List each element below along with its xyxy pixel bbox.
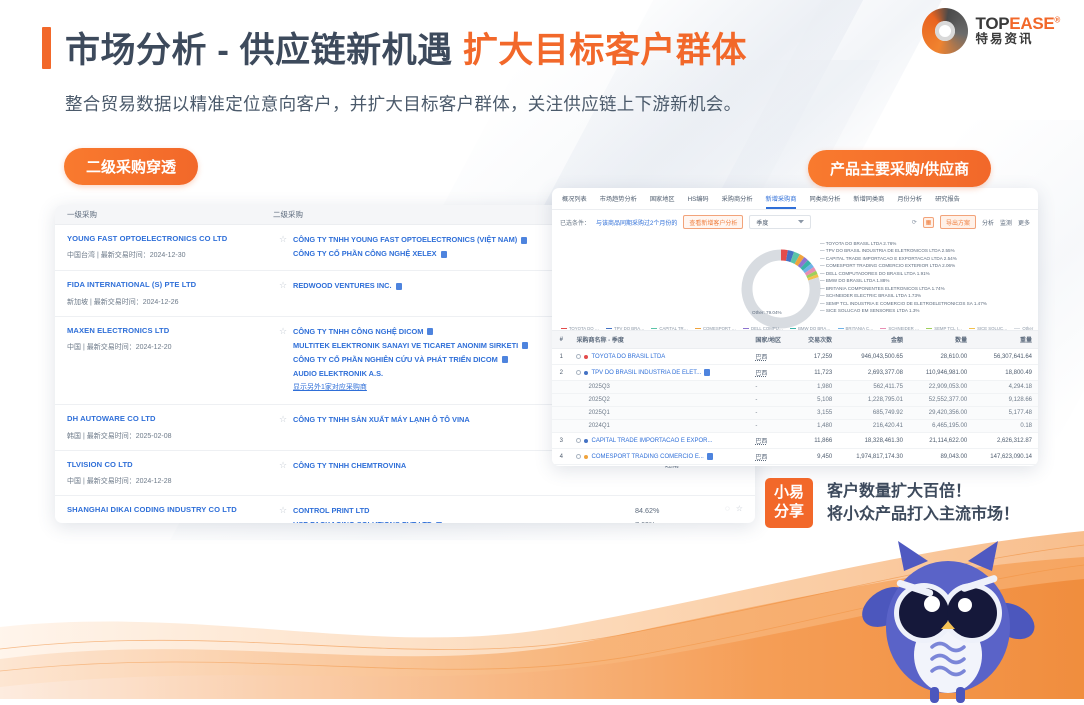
column-header-tier1: 一级采购 [55,209,273,220]
deals-cell: 9,450 [795,449,838,465]
donut-slice[interactable] [787,256,792,257]
deals-cell: 5,108 [795,394,838,407]
buyer-name-text[interactable]: COMESPORT TRADING COMERCIO E... [591,454,703,460]
star-outline-icon[interactable]: ☆ [273,459,293,486]
legend-chip-label: TPV DO BRA… [614,326,644,331]
legend-entry: — BRITANIA COMPONENTES ELETRONICOS LTDA … [820,285,987,292]
legend-color-swatch [743,328,749,330]
share-tag-line2: 分享 [774,503,804,522]
company-badge-icon [522,342,528,349]
region-cell: - [749,381,794,394]
owl-mascot [852,535,1042,705]
export-button[interactable]: 导出方案 [940,215,976,229]
star-outline-icon[interactable]: ☆ [273,325,293,396]
donut-slice[interactable] [797,259,801,261]
toolbar-link-analysis[interactable]: 分析 [982,218,994,227]
legend-chip-label: BMW DO BRA… [798,326,830,331]
buyer-meta: 中国台湾 | 最新交易时间：2024-12-30 [67,250,273,260]
weight-cell: 0.18 [973,420,1038,433]
buyer-name-text[interactable]: TPV DO BRASIL INDUSTRIA DE ELET... [591,370,701,376]
legend-chip-label: CAPITAL TR… [659,326,688,331]
legend-chip[interactable]: BRITANIA C… [838,326,874,331]
buyer-table-row[interactable]: 2TPV DO BRASIL INDUSTRIA DE ELET...巴西11,… [552,365,1038,381]
star-outline-icon[interactable]: ☆ [273,504,293,523]
legend-color-swatch [561,328,567,330]
tab-市场趋势分析[interactable]: 市场趋势分析 [600,194,637,209]
supplier-percent: 84.62% [635,504,725,518]
toolbar-link-more[interactable]: 更多 [1018,218,1030,227]
tier1-buyer-cell: SHANGHAI DIKAI CODING INDUSTRY CO LTD中国 … [55,504,273,523]
legend-chip[interactable]: DELL COMPU… [743,326,783,331]
filter-condition-link[interactable]: 与该商品同期采购过2个月份的 [596,218,677,227]
page-title: 市场分析 - 供应链新机遇 扩大目标客户群体 [65,22,747,73]
tier2-supplier-cell: CONTROL PRINT LTDUSP PACKAGING SOLUTIONS… [293,504,635,523]
company-badge-icon [707,453,713,460]
supplier-percent: 7.69% [635,518,725,523]
analysis-toolbar: 已选条件： 与该商品同期采购过2个月份的 查看新增客户分析 季度 ⟳ ▦ 导出方… [552,210,1038,234]
row-index: 4 [552,449,570,465]
legend-chip-label: TOYOTA DO … [569,326,599,331]
column-header-5[interactable]: 数量 [909,331,973,349]
deals-cell: 8,787 [795,465,838,467]
search-icon[interactable]: ◌ [725,504,730,523]
buyer-name-cell[interactable]: COMESPORT TRADING COMERCIO E... [570,449,749,465]
company-badge-icon [441,251,447,258]
series-color-dot [584,371,588,375]
deals-cell: 1,980 [795,381,838,394]
legend-chip[interactable]: COMESPORT … [695,326,736,331]
weight-cell: 4,294.18 [973,381,1038,394]
brand-logo: TOPEASE® 特易资讯 [922,8,1060,54]
buyer-name-cell[interactable]: TPV DO BRASIL INDUSTRIA DE ELET... [570,365,749,381]
legend-entry: — DELL COMPUTADORES DO BRASIL LTDA 1.91% [820,270,987,277]
legend-color-swatch [606,328,612,330]
column-header-6[interactable]: 重量 [973,331,1038,349]
share-text-line1: 客户数量扩大百倍！ [827,480,1019,503]
quantity-cell: 52,552,377.00 [909,394,973,407]
buyer-name[interactable]: DH AUTOWARE CO LTD [67,413,273,424]
donut-slice[interactable] [801,262,804,265]
tier1-buyer-cell: FIDA INTERNATIONAL (S) PTE LTD新加坡 | 最新交易… [55,279,273,306]
row-index [552,394,570,407]
legend-entry: — TOYOTA DO BRASIL LTDA 2.76% [820,240,987,247]
buyer-name[interactable]: FIDA INTERNATIONAL (S) PTE LTD [67,279,273,290]
period-select[interactable]: 季度 [749,215,811,229]
legend-chip[interactable]: SICE SOLUC… [969,326,1007,331]
row-index [552,381,570,394]
supplier-name[interactable]: REDWOOD VENTURES INC. [293,279,392,293]
region-cell: - [749,420,794,433]
amount-cell: 18,328,461.30 [838,433,909,449]
buyer-name-cell[interactable]: DELL COMPUTADORES DO BRASIL L... [570,465,749,467]
donut-slice[interactable] [792,257,797,259]
row-index [552,420,570,433]
share-text: 客户数量扩大百倍！ 将小众产品打入主流市场！ [827,480,1019,526]
deals-cell: 17,259 [795,349,838,365]
buyer-detail-table: #采购商名称 - 季度国家/地区交易次数金额数量重量 1TOYOTA DO BR… [552,330,1038,466]
column-header-2[interactable]: 国家/地区 [749,331,794,349]
weight-cell: 9,128.66 [973,394,1038,407]
legend-chip[interactable]: CAPITAL TR… [651,326,688,331]
region-cell: 84.62%7.69%3.85%3.85% [635,504,725,523]
tab-研究报告[interactable]: 研究报告 [935,194,960,209]
legend-entry: — SEMP TCL INDUSTRIA E COMERCIO DE ELETR… [820,300,987,307]
buyer-name[interactable]: MAXEN ELECTRONICS LTD [67,325,273,336]
buyer-table-row[interactable]: 4COMESPORT TRADING COMERCIO E...巴西9,4501… [552,449,1038,465]
weight-cell: 18,800.49 [973,365,1038,381]
toolbar-link-monitor[interactable]: 监测 [1000,218,1012,227]
amount-cell: 946,043,500.65 [838,349,909,365]
buyer-meta: 中国 | 最新交易时间：2025-01-20 [67,522,273,523]
row-index: 3 [552,433,570,449]
series-color-dot [584,439,588,443]
region-cell: 巴西 [749,433,794,449]
donut-legend-bottom: TOYOTA DO …TPV DO BRA…CAPITAL TR…COMESPO… [574,326,1020,331]
legend-color-swatch [790,328,796,330]
star-outline-icon[interactable]: ☆ [273,233,293,261]
share-tag: 小易 分享 [765,478,813,528]
tab-新增同类商[interactable]: 新增同类商 [853,194,884,209]
weight-cell: 2,626,312.87 [973,433,1038,449]
row-index: 1 [552,349,570,365]
donut-slice[interactable] [807,267,809,270]
buyer-name[interactable]: TLVISION CO LTD [67,459,273,470]
legend-entry: — SICE SOLUCAO EM SENSORES LTDA 1.3% [820,307,987,314]
buyer-name-cell[interactable]: 2025Q1 [570,407,749,420]
supplier-name[interactable]: CÔNG TY TNHH CHEMTROVINA [293,459,406,473]
share-callout: 小易 分享 客户数量扩大百倍！ 将小众产品打入主流市场！ [765,478,1019,528]
analysis-tab-bar[interactable]: 概况列表市场趋势分析国家地区HS编码采购商分析新增采购商同类商分析新增同类商月份… [552,188,1038,210]
buyer-table-row[interactable]: 1TOYOTA DO BRASIL LTDA巴西17,259946,043,50… [552,349,1038,365]
logo-chinese-name: 特易资讯 [976,32,1060,47]
amount-cell: 562,411.75 [838,381,909,394]
supplier-name[interactable]: CÔNG TY TNHH SẢN XUẤT MÁY LẠNH Ô TÔ VINA [293,413,470,427]
donut-slice[interactable] [812,276,813,279]
quantity-cell: 22,909,053.00 [909,381,973,394]
company-badge-icon [704,369,710,376]
donut-other-label: Other: 79.04% [752,310,782,315]
legend-entry: — CAPITAL TRADE IMPORTACAO E EXPORTACAO … [820,255,987,262]
donut-slice[interactable] [809,270,811,273]
tab-月份分析[interactable]: 月份分析 [897,194,922,209]
company-badge-icon [427,328,433,335]
title-accent-bar [42,27,51,69]
expand-icon[interactable] [576,438,581,443]
topease-logo-icon [922,8,968,54]
supplier-name[interactable]: CÔNG TY TNHH YOUNG FAST OPTOELECTRONICS … [293,233,517,247]
buyer-meta: 中国 | 最新交易时间：2024-12-28 [67,476,273,486]
amount-cell: 15,836,702.89 [838,465,909,467]
company-badge-icon [502,356,508,363]
buyer-meta: 中国 | 最新交易时间：2024-12-20 [67,342,273,352]
series-color-dot [584,455,588,459]
tier1-buyer-cell: MAXEN ELECTRONICS LTD中国 | 最新交易时间：2024-12… [55,325,273,396]
donut-legend: — TOYOTA DO BRASIL LTDA 2.76%— TPV DO BR… [820,240,987,314]
amount-cell: 1,228,795.01 [838,394,909,407]
weight-cell: 5,177.48 [973,407,1038,420]
tab-新增采购商[interactable]: 新增采购商 [766,194,797,209]
page-subtitle: 整合贸易数据以精准定位意向客户，并扩大目标客户群体，关注供应链上下游新机会。 [65,91,1084,116]
expand-icon[interactable] [576,454,581,459]
legend-chip-label: Other [1022,326,1033,331]
buyer-name-text[interactable]: CAPITAL TRADE IMPORTACAO E EXPOR... [591,438,712,444]
supplier-name[interactable]: CÔNG TY CỔ PHẦN NGHIÊN CỨU VÀ PHÁT TRIỂN… [293,353,498,367]
quantity-cell: 29,420,356.00 [909,407,973,420]
logo-top-text: TOP [976,14,1010,33]
company-badge-icon [396,283,402,290]
region-cell: - [749,407,794,420]
deals-cell: 11,866 [795,433,838,449]
star-outline-icon[interactable]: ☆ [273,279,293,306]
column-header-1[interactable]: 采购商名称 - 季度 [570,331,749,349]
column-header-4[interactable]: 金额 [838,331,909,349]
amount-cell: 216,420.41 [838,420,909,433]
expand-icon[interactable] [576,370,581,375]
buyer-table-header-row: #采购商名称 - 季度国家/地区交易次数金额数量重量 [552,331,1038,349]
buyer-share-donut-chart: — TOYOTA DO BRASIL LTDA 2.76%— TPV DO BR… [552,234,1038,330]
legend-chip-label: BRITANIA C… [846,326,874,331]
page-title-main: 市场分析 - 供应链新机遇 [65,31,453,70]
tier1-buyer-cell: DH AUTOWARE CO LTD韩国 | 最新交易时间：2025-02-08 [55,413,273,440]
legend-chip[interactable]: SCHNEIDER … [880,326,919,331]
tab-采购商分析[interactable]: 采购商分析 [722,194,753,209]
column-header-tier2: 二级采购 [273,209,513,220]
legend-chip-label: SCHNEIDER … [888,326,919,331]
tab-国家地区[interactable]: 国家地区 [650,194,675,209]
buyer-name-cell[interactable]: TOYOTA DO BRASIL LTDA [570,349,749,365]
region-cell: 巴西 [749,465,794,467]
filter-label: 已选条件： [560,218,590,227]
buyer-analysis-card: 概况列表市场趋势分析国家地区HS编码采购商分析新增采购商同类商分析新增同类商月份… [552,188,1038,466]
deals-cell: 11,723 [795,365,838,381]
legend-entry: — SCHNEIDER ELECTRIC BRASIL LTDA 1.73% [820,292,987,299]
legend-color-swatch [926,328,932,330]
share-text-line2: 将小众产品打入主流市场！ [827,503,1019,526]
tier1-buyer-cell: TLVISION CO LTD中国 | 最新交易时间：2024-12-28 [55,459,273,486]
legend-chip[interactable]: BMW DO BRA… [790,326,830,331]
buyer-name-cell[interactable]: 2024Q1 [570,420,749,433]
table-row[interactable]: SHANGHAI DIKAI CODING INDUSTRY CO LTD中国 … [55,496,755,523]
company-badge-icon [436,522,442,523]
series-color-dot [584,355,588,359]
star-outline-icon[interactable]: ☆ [736,504,743,523]
buyer-name-text[interactable]: TOYOTA DO BRASIL LTDA [591,354,665,360]
legend-color-swatch [969,328,975,330]
buyer-name-cell[interactable]: 2025Q3 [570,381,749,394]
amount-cell: 2,693,377.08 [838,365,909,381]
view-new-customers-button[interactable]: 查看新增客户分析 [683,215,743,229]
supplier-entry[interactable]: USP PACKAGING SOLUTIONS PVT LTD [293,518,635,523]
donut-slice[interactable] [804,264,807,267]
quantity-cell: 21,114,622.00 [909,433,973,449]
buyer-table-row[interactable]: 2025Q1-3,155685,749.9229,420,356.005,177… [552,407,1038,420]
supplier-name[interactable]: CÔNG TY TNHH CÔNG NGHỆ DICOM [293,325,423,339]
weight-cell: 147,623,090.14 [973,449,1038,465]
legend-chip[interactable]: TOYOTA DO … [561,326,599,331]
legend-color-swatch [1014,328,1020,330]
amount-cell: 685,749.92 [838,407,909,420]
legend-color-swatch [838,328,844,330]
legend-entry: — BMW DO BRASIL LTDA 1.88% [820,277,987,284]
period-select-value: 季度 [756,218,768,227]
quantity-cell: 110,946,981.00 [909,365,973,381]
legend-color-swatch [695,328,701,330]
row-action-icons[interactable]: ◌☆ [725,504,755,523]
expand-icon[interactable] [576,354,581,359]
star-outline-icon[interactable]: ☆ [273,413,293,440]
row-index: 2 [552,365,570,381]
quantity-cell: 6,465,195.00 [909,420,973,433]
column-header-0[interactable]: # [552,331,570,349]
logo-ease-text: EASE [1009,14,1054,33]
column-header-3[interactable]: 交易次数 [795,331,838,349]
buyer-name-cell[interactable]: CAPITAL TRADE IMPORTACAO E EXPOR... [570,433,749,449]
badge-secondary-procurement: 二级采购穿透 [64,148,198,185]
quantity-cell: 89,043.00 [909,449,973,465]
tab-HS编码[interactable]: HS编码 [688,194,709,209]
tier1-buyer-cell: YOUNG FAST OPTOELECTRONICS CO LTD中国台湾 | … [55,233,273,261]
supplier-name[interactable]: CONTROL PRINT LTD [293,504,370,518]
supplier-name[interactable]: USP PACKAGING SOLUTIONS PVT LTD [293,518,432,523]
deals-cell: 1,480 [795,420,838,433]
legend-entry: — TPV DO BRASIL INDUSTRIA DE ELETRONICOS… [820,247,987,254]
chevron-down-icon [798,220,804,224]
region-cell: 巴西 [749,365,794,381]
legend-chip[interactable]: Other [1014,326,1033,331]
deals-cell: 3,155 [795,407,838,420]
supplier-name[interactable]: MULTITEK ELEKTRONIK SANAYI VE TICARET AN… [293,339,518,353]
buyer-table-row[interactable]: 3CAPITAL TRADE IMPORTACAO E EXPOR...巴西11… [552,433,1038,449]
amount-cell: 1,974,817,174.30 [838,449,909,465]
logo-wordmark: TOPEASE® [976,15,1060,33]
buyer-name[interactable]: YOUNG FAST OPTOELECTRONICS CO LTD [67,233,273,244]
legend-color-swatch [651,328,657,330]
page-title-accent: 扩大目标客户群体 [463,31,747,70]
quantity-cell: 94,080.00 [909,465,973,467]
region-cell: 巴西 [749,449,794,465]
tab-同类商分析[interactable]: 同类商分析 [809,194,840,209]
legend-chip-label: SEMP TCL I… [934,326,962,331]
supplier-name[interactable]: AUDIO ELEKTRONIK A.S. [293,367,383,381]
donut-slice[interactable] [781,255,787,256]
buyer-name-cell[interactable]: 2025Q2 [570,394,749,407]
row-index [552,407,570,420]
tab-概况列表[interactable]: 概况列表 [562,194,587,209]
legend-color-swatch [880,328,886,330]
buyer-name[interactable]: SHANGHAI DIKAI CODING INDUSTRY CO LTD [67,504,273,515]
donut-slice[interactable] [811,273,812,276]
buyer-table-row[interactable]: 2024Q1-1,480216,420.416,465,195.000.18 [552,420,1038,433]
region-cell: - [749,394,794,407]
donut-svg [738,246,824,332]
registered-mark: ® [1054,15,1060,24]
quantity-cell: 28,610.00 [909,349,973,365]
legend-chip-label: DELL COMPU… [751,326,783,331]
buyer-table-row[interactable]: 2025Q3-1,980562,411.7522,909,053.004,294… [552,381,1038,394]
weight-cell: 461,261.20 [973,465,1038,467]
badge-product-suppliers: 产品主要采购/供应商 [808,150,991,187]
legend-chip[interactable]: SEMP TCL I… [926,326,962,331]
table-icon[interactable]: ▦ [923,217,934,228]
buyer-table-row[interactable]: 2025Q2-5,1081,228,795.0152,552,377.009,1… [552,394,1038,407]
share-tag-line1: 小易 [774,484,804,503]
region-cell: 巴西 [749,349,794,365]
legend-chip-label: SICE SOLUC… [977,326,1007,331]
weight-cell: 56,307,641.64 [973,349,1038,365]
buyer-table-row[interactable]: 5DELL COMPUTADORES DO BRASIL L...巴西8,787… [552,465,1038,467]
legend-entry: — COMESPORT TRADING COMERCIO EXTERIOR LT… [820,262,987,269]
buyer-meta: 韩国 | 最新交易时间：2025-02-08 [67,431,273,441]
legend-chip-label: COMESPORT … [703,326,736,331]
refresh-icon[interactable]: ⟳ [912,219,917,226]
legend-chip[interactable]: TPV DO BRA… [606,326,644,331]
company-badge-icon [521,237,527,244]
buyer-table-body: 1TOYOTA DO BRASIL LTDA巴西17,259946,043,50… [552,349,1038,467]
buyer-meta: 新加坡 | 最新交易时间：2024-12-26 [67,297,273,307]
supplier-name[interactable]: CÔNG TY CỔ PHẦN CÔNG NGHỆ XELEX [293,247,437,261]
supplier-entry[interactable]: CONTROL PRINT LTD [293,504,635,518]
